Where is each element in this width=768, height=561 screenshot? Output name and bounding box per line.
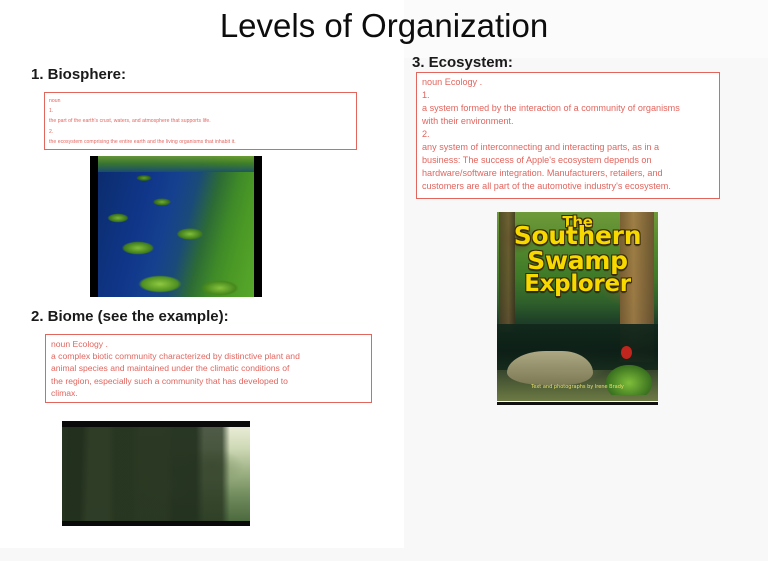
image-biosphere-horizon — [98, 156, 254, 172]
definition-line: climax. — [51, 387, 367, 399]
page-title: Levels of Organization — [0, 6, 768, 46]
book-cover-author: Text and photographs by Irene Brady — [497, 385, 658, 390]
definition-line: any system of interconnecting and intera… — [422, 141, 715, 154]
definition-line: the part of the earth's crust, waters, a… — [49, 116, 353, 126]
definition-line: business: The success of Apple's ecosyst… — [422, 154, 715, 167]
book-cover-title-line1: Southern — [497, 223, 658, 248]
section-heading-biome: 2. Biome (see the example): — [31, 308, 229, 325]
book-cover-berries — [621, 346, 632, 359]
definition-line: a complex biotic community characterized… — [51, 350, 367, 362]
image-biosphere-aerial-swamp — [90, 156, 262, 297]
definition-line: hardware/software integration. Manufactu… — [422, 167, 715, 180]
definition-line: animal species and maintained under the … — [51, 362, 367, 374]
image-biome-mossy-forest — [62, 421, 250, 526]
book-cover-fern — [606, 365, 652, 395]
slide-canvas: Levels of Organization 1. Biosphere: nou… — [0, 0, 768, 561]
section-heading-biosphere: 1. Biosphere: — [31, 66, 126, 83]
book-image-underline — [497, 402, 658, 405]
definition-line: noun Ecology . — [422, 76, 715, 89]
section-heading-ecosystem: 3. Ecosystem: — [412, 54, 513, 71]
definition-line: noun — [49, 96, 353, 106]
definition-line: noun Ecology . — [51, 338, 367, 350]
definition-line: 1. — [49, 106, 353, 116]
definition-box-biosphere: noun 1. the part of the earth's crust, w… — [44, 92, 357, 150]
definition-line: customers are all part of the automotive… — [422, 180, 715, 193]
definition-line: with their environment. — [422, 115, 715, 128]
definition-line: 1. — [422, 89, 715, 102]
definition-box-biome: noun Ecology . a complex biotic communit… — [45, 334, 372, 403]
book-cover-title-line2: Swamp — [497, 248, 658, 273]
definition-line: 2. — [422, 128, 715, 141]
book-cover-alligator — [507, 351, 593, 385]
book-cover-title-line3: Explorer — [497, 273, 658, 296]
definition-line: the ecosystem comprising the entire eart… — [49, 137, 353, 147]
definition-box-ecosystem: noun Ecology . 1. a system formed by the… — [416, 72, 720, 199]
definition-line: the region, especially such a community … — [51, 375, 367, 387]
definition-line: 2. — [49, 127, 353, 137]
image-biome-content — [62, 427, 250, 521]
definition-line: a system formed by the interaction of a … — [422, 102, 715, 115]
image-book-cover-southern-swamp-explorer: The Southern Swamp Explorer Text and pho… — [497, 212, 658, 401]
image-biosphere-content — [98, 156, 254, 297]
